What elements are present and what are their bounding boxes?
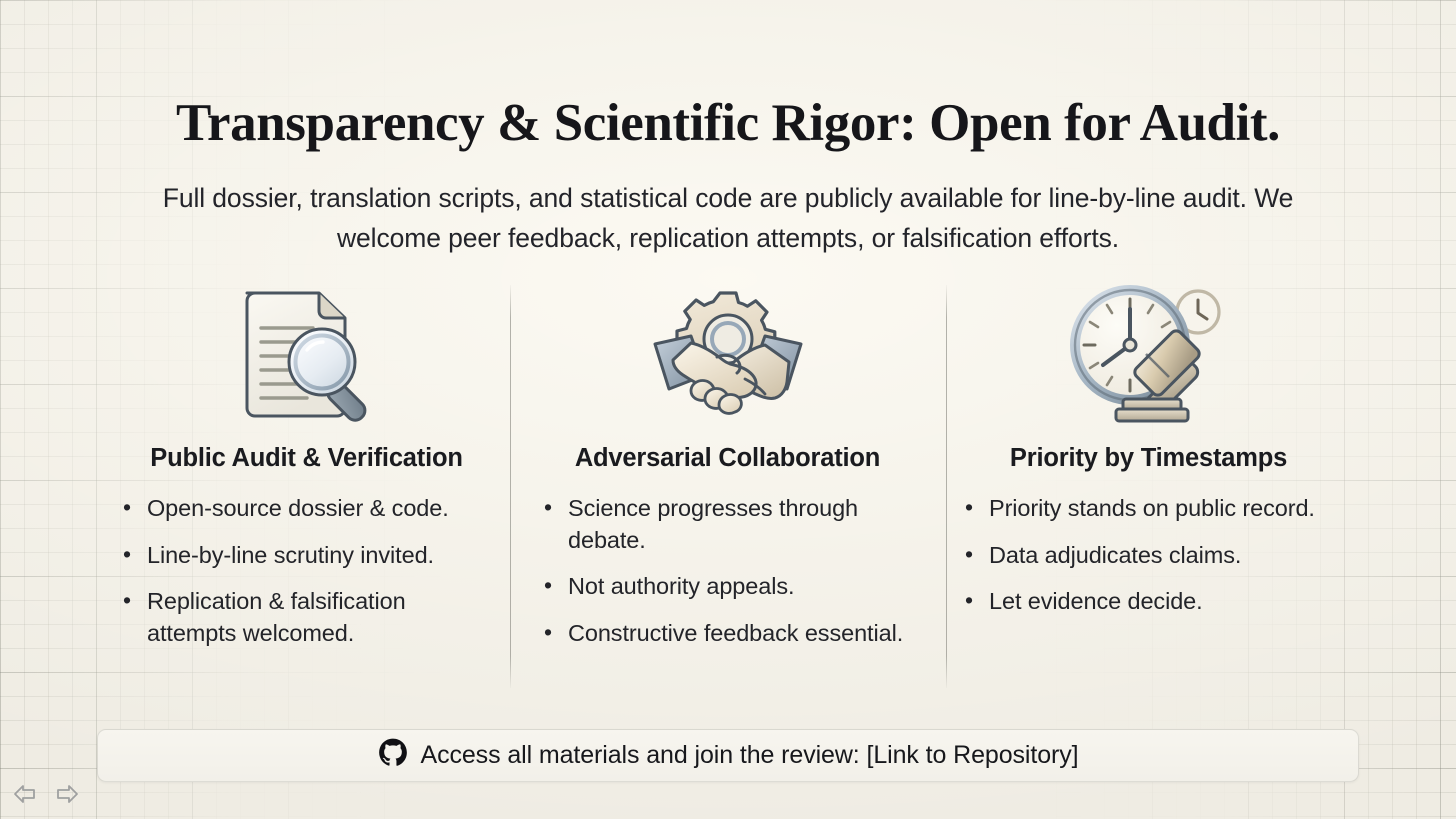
slide-canvas: Transparency & Scientific Rigor: Open fo… bbox=[0, 0, 1456, 819]
column-title: Public Audit & Verification bbox=[108, 444, 505, 473]
column-bullet-list: Science progresses through debate. Not a… bbox=[529, 493, 926, 650]
list-item: Replication & falsification attempts wel… bbox=[116, 586, 501, 649]
columns-container: Public Audit & Verification Open-source … bbox=[96, 278, 1360, 690]
repository-link-text: Access all materials and join the review… bbox=[421, 741, 1079, 770]
list-item: Let evidence decide. bbox=[958, 586, 1343, 618]
column-priority-timestamps: Priority by Timestamps Priority stands o… bbox=[938, 278, 1359, 633]
arrow-right-icon[interactable] bbox=[54, 783, 80, 805]
github-icon bbox=[378, 738, 408, 773]
column-title: Adversarial Collaboration bbox=[529, 444, 926, 473]
list-item: Science progresses through debate. bbox=[537, 493, 922, 556]
page-subtitle: Full dossier, translation scripts, and s… bbox=[118, 178, 1338, 259]
page-title: Transparency & Scientific Rigor: Open fo… bbox=[0, 96, 1456, 152]
column-bullet-list: Priority stands on public record. Data a… bbox=[950, 493, 1347, 618]
document-magnifier-icon bbox=[108, 278, 505, 428]
list-item: Data adjudicates claims. bbox=[958, 540, 1343, 572]
list-item: Not authority appeals. bbox=[537, 571, 922, 603]
slide-content: Transparency & Scientific Rigor: Open fo… bbox=[0, 0, 1456, 819]
column-public-audit: Public Audit & Verification Open-source … bbox=[96, 278, 517, 665]
list-item: Priority stands on public record. bbox=[958, 493, 1343, 525]
list-item: Open-source dossier & code. bbox=[116, 493, 501, 525]
arrow-left-icon[interactable] bbox=[12, 783, 38, 805]
column-title: Priority by Timestamps bbox=[950, 444, 1347, 473]
clock-gavel-icon bbox=[950, 278, 1347, 428]
column-bullet-list: Open-source dossier & code. Line-by-line… bbox=[108, 493, 505, 650]
slide-navigation bbox=[12, 783, 80, 805]
column-adversarial-collaboration: Adversarial Collaboration Science progre… bbox=[517, 278, 938, 665]
repository-link-bar[interactable]: Access all materials and join the review… bbox=[97, 729, 1359, 782]
handshake-gear-icon bbox=[529, 278, 926, 428]
list-item: Line-by-line scrutiny invited. bbox=[116, 540, 501, 572]
list-item: Constructive feedback essential. bbox=[537, 618, 922, 650]
